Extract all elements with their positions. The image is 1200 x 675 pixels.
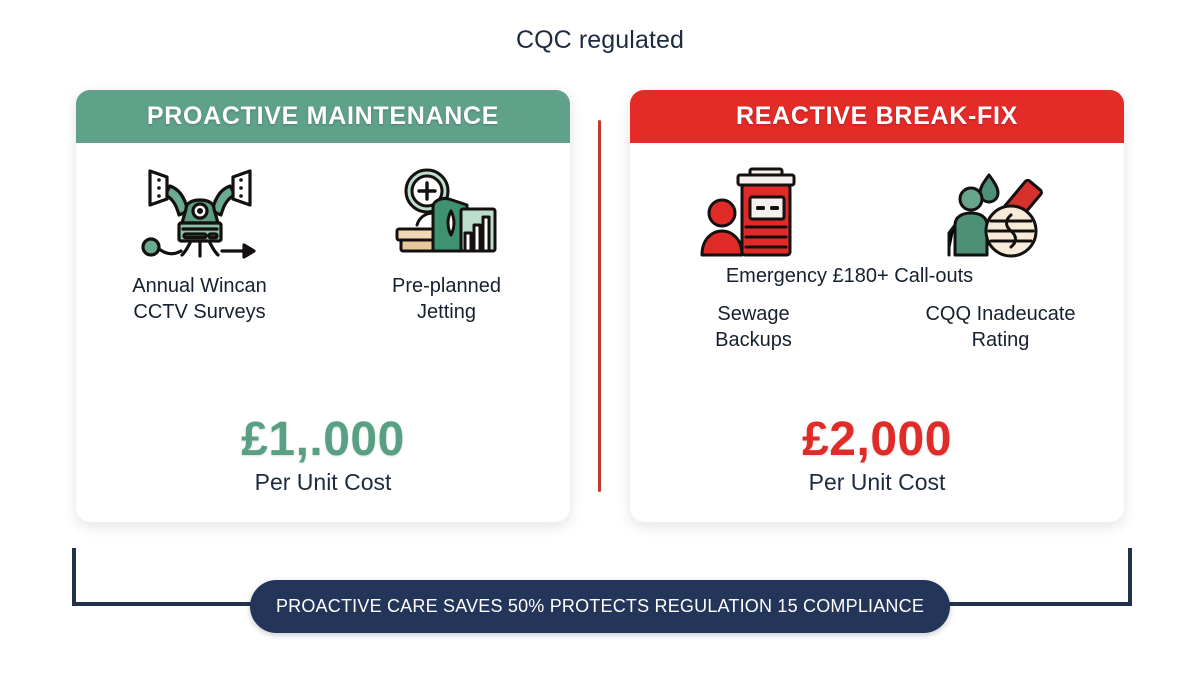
summary-banner: PROACTIVE CARE SAVES 50% PROTECTS REGULA… bbox=[250, 580, 950, 633]
proactive-price-subtitle: Per Unit Cost bbox=[76, 469, 570, 496]
reactive-price-subtitle: Per Unit Cost bbox=[630, 469, 1124, 496]
proactive-maintenance-card: PROACTIVE MAINTENANCE bbox=[76, 90, 570, 522]
cctv-crawler-robot-icon bbox=[134, 165, 266, 261]
proactive-card-body: Annual Wincan CCTV Surveys bbox=[76, 143, 570, 522]
proactive-item-jetting-label: Pre-planned Jetting bbox=[392, 273, 501, 326]
reactive-card-header: REACTIVE BREAK-FIX bbox=[630, 90, 1124, 143]
jetting-plus-chart-icon bbox=[389, 165, 505, 261]
reactive-item-sewage: Sewage Backups bbox=[630, 165, 877, 354]
proactive-item-cctv-label: Annual Wincan CCTV Surveys bbox=[132, 273, 267, 326]
emergency-callout-person-machine-icon bbox=[698, 165, 810, 261]
proactive-item-jetting: Pre-planned Jetting bbox=[323, 165, 570, 326]
reactive-emergency-caption: Emergency £180+ Call-outs bbox=[630, 265, 1124, 288]
reactive-card-body: Sewage Backups bbox=[630, 143, 1124, 522]
reactive-price: £2,000 bbox=[630, 415, 1124, 465]
summary-banner-text: PROACTIVE CARE SAVES 50% PROTECTS REGULA… bbox=[276, 596, 924, 617]
proactive-price-block: £1,.000 Per Unit Cost bbox=[76, 415, 570, 496]
reactive-break-fix-card: REACTIVE BREAK-FIX bbox=[630, 90, 1124, 522]
inadequate-rating-person-icon bbox=[945, 165, 1057, 261]
proactive-price: £1,.000 bbox=[76, 415, 570, 465]
panel-divider bbox=[598, 120, 601, 492]
reactive-item-rating-label: CQQ Inadeucate Rating bbox=[925, 301, 1075, 354]
proactive-item-cctv: Annual Wincan CCTV Surveys bbox=[76, 165, 323, 326]
reactive-item-rating: CQQ Inadeucate Rating bbox=[877, 165, 1124, 354]
page-title: CQC regulated bbox=[0, 26, 1200, 55]
proactive-item-columns: Annual Wincan CCTV Surveys bbox=[76, 143, 570, 326]
reactive-price-block: £2,000 Per Unit Cost bbox=[630, 415, 1124, 496]
proactive-card-header: PROACTIVE MAINTENANCE bbox=[76, 90, 570, 143]
reactive-item-columns: Sewage Backups bbox=[630, 143, 1124, 354]
reactive-item-sewage-label: Sewage Backups bbox=[715, 301, 792, 354]
